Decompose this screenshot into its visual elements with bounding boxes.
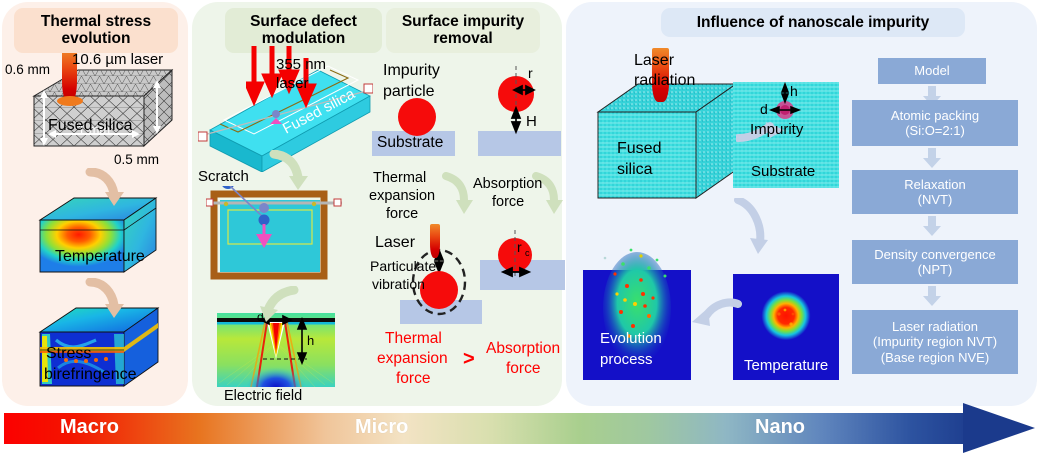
flow-arrow-chart-2	[922, 148, 942, 168]
flow-step-density-l1: Density convergence	[874, 247, 995, 262]
laser-beam-impurity	[430, 224, 440, 258]
title-line-2: removal	[388, 30, 538, 47]
flow-step-relaxation-l1: Relaxation	[904, 177, 965, 192]
label-nano-substrate: Substrate	[751, 163, 815, 180]
scratch-top-view	[206, 186, 342, 286]
md-fused-silica-cube	[594, 82, 739, 202]
title-line-1: Surface impurity	[388, 13, 538, 30]
scale-axis-arrowhead	[963, 403, 1035, 453]
svg-text:H: H	[526, 113, 537, 130]
svg-text:c: c	[525, 248, 530, 258]
flow-arrow-chart-4	[922, 286, 942, 306]
label-laser-wavelength: 10.6 µm laser	[72, 51, 163, 68]
flow-step-model: Model	[878, 58, 986, 84]
conclusion-left-l2: expansion	[377, 350, 448, 368]
label-result-stress-l2: birefringence	[44, 366, 137, 384]
contact-radius-annotation: r c	[490, 228, 560, 288]
electric-field-map: d h	[217, 313, 335, 387]
label-nano-material-l2: silica	[617, 161, 653, 179]
flow-arrow-defect-1	[268, 150, 316, 192]
label-nano-temperature: Temperature	[744, 357, 828, 374]
label-scratch: Scratch	[198, 168, 249, 185]
label-material-fused-silica: Fused silica	[48, 117, 132, 135]
svg-text:d: d	[760, 101, 768, 117]
label-impurity-particle-l2: particle	[383, 83, 435, 101]
flow-arrow-chart-3	[922, 216, 942, 236]
flow-arrow-nano-2	[730, 198, 778, 256]
label-thermal-force-l3: force	[386, 206, 418, 222]
label-evolution-process-l2: process	[600, 351, 653, 368]
label-substrate: Substrate	[377, 134, 443, 152]
label-electric-field: Electric field	[224, 388, 302, 404]
scale-label-nano: Nano	[755, 416, 805, 439]
impurity-particle-left	[398, 98, 436, 136]
flow-step-relaxation-l2: (NVT)	[918, 192, 953, 207]
label-evolution-process-l1: Evolution	[600, 330, 662, 347]
label-absorption-force-l2: force	[492, 194, 524, 210]
dimension-r-H-annotations: r H	[480, 62, 566, 140]
label-thermal-force-l1: Thermal	[373, 170, 426, 186]
label-laser-355nm-l1: 355 nm	[276, 56, 326, 73]
flow-step-laser-l2: (Impurity region NVT)	[873, 334, 997, 349]
scale-label-macro: Macro	[60, 416, 119, 439]
label-result-temperature: Temperature	[55, 248, 145, 266]
flow-step-model-label: Model	[914, 63, 949, 78]
conclusion-right-l1: Absorption	[486, 340, 560, 358]
flow-step-density-l2: (NPT)	[918, 262, 953, 277]
panel-title-thermal-stress: Thermal stress evolution	[14, 8, 178, 53]
conclusion-left-l3: force	[396, 370, 430, 388]
flow-step-atomic-packing: Atomic packing (Si:O=2:1)	[852, 100, 1018, 146]
title-line-1: Surface defect	[227, 13, 380, 30]
scale-label-micro: Micro	[355, 416, 408, 439]
panel-title-nano: Influence of nanoscale impurity	[661, 8, 965, 37]
label-nano-impurity: Impurity	[750, 121, 803, 138]
flow-arrow-macro-1	[84, 168, 132, 208]
result-temperature-block	[38, 196, 160, 284]
flow-step-laser-radiation: Laser radiation (Impurity region NVT) (B…	[852, 310, 1018, 374]
label-absorption-force-l1: Absorption	[473, 176, 542, 192]
label-result-stress-l1: Stress	[46, 345, 91, 363]
flow-arrow-defect-2	[254, 286, 304, 324]
flow-arrow-macro-2	[84, 278, 132, 320]
flow-step-relaxation: Relaxation (NVT)	[852, 170, 1018, 214]
svg-text:r: r	[528, 65, 533, 81]
svg-text:h: h	[307, 333, 314, 348]
label-dimension-height: 0.6 mm	[5, 62, 50, 77]
title-line-1: Thermal stress	[16, 13, 176, 30]
flow-step-laser-l3: (Base region NVE)	[881, 350, 989, 365]
svg-text:h: h	[790, 83, 798, 99]
flow-step-density-convergence: Density convergence (NPT)	[852, 240, 1018, 284]
flow-step-atomic-packing-l2: (Si:O=2:1)	[905, 123, 965, 138]
label-laser-355nm-l2: laser	[276, 75, 309, 92]
label-nano-material-l1: Fused	[617, 140, 661, 158]
label-thermal-force-l2: expansion	[369, 188, 435, 204]
flow-step-atomic-packing-l1: Atomic packing	[891, 108, 979, 123]
flow-step-laser-l1: Laser radiation	[892, 319, 978, 334]
flow-arrow-nano-3	[690, 296, 742, 338]
label-impurity-particle-l1: Impurity	[383, 62, 440, 80]
conclusion-right-l2: force	[506, 360, 540, 378]
label-dimension-depth: 0.5 mm	[114, 152, 159, 167]
svg-text:r: r	[517, 239, 522, 255]
conclusion-left-l1: Thermal	[385, 330, 442, 348]
label-laser-impurity: Laser	[375, 234, 415, 252]
conclusion-operator: >	[463, 348, 475, 371]
scale-axis-bar	[4, 413, 979, 444]
label-vibration-l2: vibration	[372, 276, 425, 292]
title-line-2: evolution	[16, 30, 176, 47]
label-vibration-l1: Particulate	[370, 258, 436, 274]
panel-title-surface-impurity: Surface impurity removal	[386, 8, 540, 53]
label-laser-radiation-l2: radiation	[634, 72, 695, 90]
laser-spot-macro	[57, 96, 83, 106]
label-laser-radiation-l1: Laser	[634, 52, 674, 70]
